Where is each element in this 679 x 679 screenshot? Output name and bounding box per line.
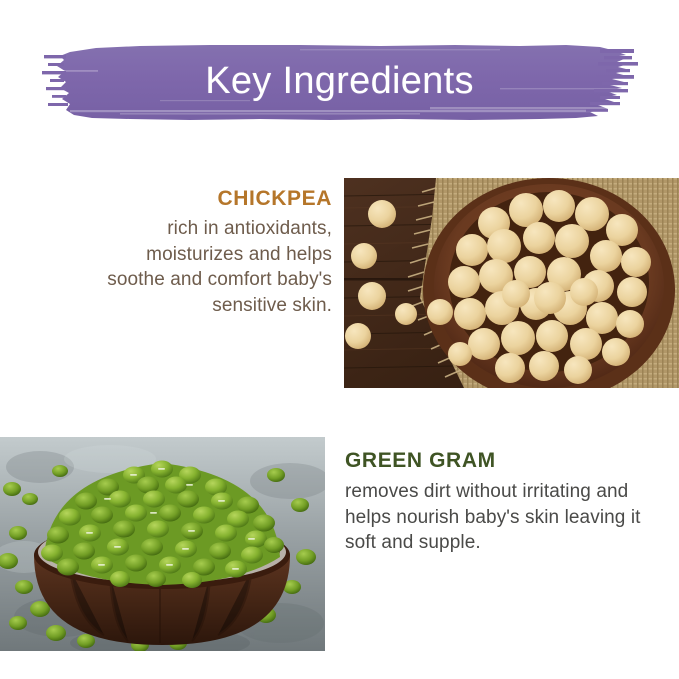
ingredient-text-green-gram: GREEN GRAM removes dirt without irritati… xyxy=(345,448,655,556)
ingredient-text-chickpea: CHICKPEA rich in antioxidants, moisturiz… xyxy=(88,186,332,318)
green-gram-bowl-image xyxy=(0,437,325,651)
ingredient-photo-chickpea xyxy=(344,178,679,388)
ingredient-description-green-gram: removes dirt without irritating and help… xyxy=(345,479,655,556)
ingredient-name-chickpea: CHICKPEA xyxy=(88,186,332,211)
page-title: Key Ingredients xyxy=(0,59,679,103)
key-ingredients-page: Key Ingredients CHICKPEA rich in antioxi… xyxy=(0,0,679,679)
ingredient-description-chickpea: rich in antioxidants, moisturizes and he… xyxy=(88,216,332,318)
chickpea-bowl-image xyxy=(344,178,679,388)
ingredient-photo-green-gram xyxy=(0,437,325,651)
header-banner: Key Ingredients xyxy=(0,0,679,150)
ingredient-name-green-gram: GREEN GRAM xyxy=(345,448,655,473)
